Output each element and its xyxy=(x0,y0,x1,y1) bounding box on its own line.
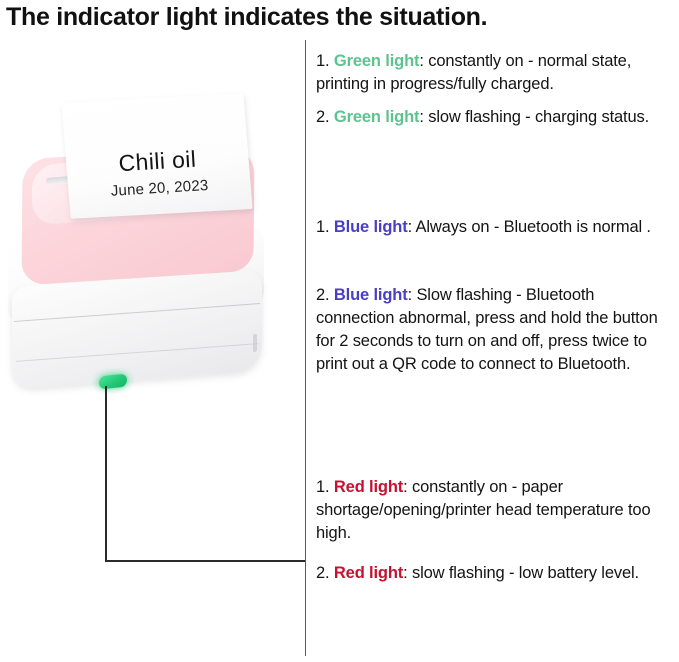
printed-label-content: Chili oil June 20, 2023 xyxy=(68,97,246,214)
instruction-number: 1. xyxy=(316,478,334,496)
instruction-keyword: Blue light xyxy=(334,218,408,236)
printer-body-lower xyxy=(12,269,262,389)
page-title: The indicator light indicates the situat… xyxy=(6,2,666,33)
instruction-red-2: 2. Red light: slow flashing - low batter… xyxy=(316,562,674,585)
instruction-number: 2. xyxy=(316,564,334,582)
instruction-number: 2. xyxy=(316,286,334,304)
instruction-keyword: Red light xyxy=(334,564,403,582)
instruction-green-2: 2. Green light: slow flashing - charging… xyxy=(316,106,674,129)
instruction-blue-1: 1. Blue light: Always on - Bluetooth is … xyxy=(316,216,674,239)
callout-line-horizontal xyxy=(105,560,305,562)
instruction-keyword: Green light xyxy=(334,108,419,126)
instruction-number: 1. xyxy=(316,218,334,236)
label-date-text: June 20, 2023 xyxy=(74,175,245,202)
instruction-number: 2. xyxy=(316,108,334,126)
column-divider xyxy=(305,40,306,656)
instruction-body: : Always on - Bluetooth is normal . xyxy=(408,218,651,236)
instruction-body: : slow flashing - low battery level. xyxy=(403,564,639,582)
printer-side-button[interactable] xyxy=(253,334,257,352)
instruction-number: 1. xyxy=(316,52,334,70)
label-title-text: Chili oil xyxy=(72,143,243,180)
callout-line-vertical xyxy=(105,386,107,562)
instruction-red-1: 1. Red light: constantly on - paper shor… xyxy=(316,476,674,545)
instruction-keyword: Green light xyxy=(334,52,419,70)
instruction-body: : slow flashing - charging status. xyxy=(419,108,649,126)
instruction-keyword: Red light xyxy=(334,478,403,496)
instruction-keyword: Blue light xyxy=(334,286,408,304)
instruction-blue-2: 2. Blue light: Slow flashing - Bluetooth… xyxy=(316,284,674,376)
instruction-green-1: 1. Green light: constantly on - normal s… xyxy=(316,50,674,96)
printer-device: Chili oil June 20, 2023 xyxy=(6,106,268,406)
instructions-column: 1. Green light: constantly on - normal s… xyxy=(316,44,676,656)
page-root: The indicator light indicates the situat… xyxy=(0,0,679,662)
printer-illustration: Chili oil June 20, 2023 xyxy=(0,44,305,644)
